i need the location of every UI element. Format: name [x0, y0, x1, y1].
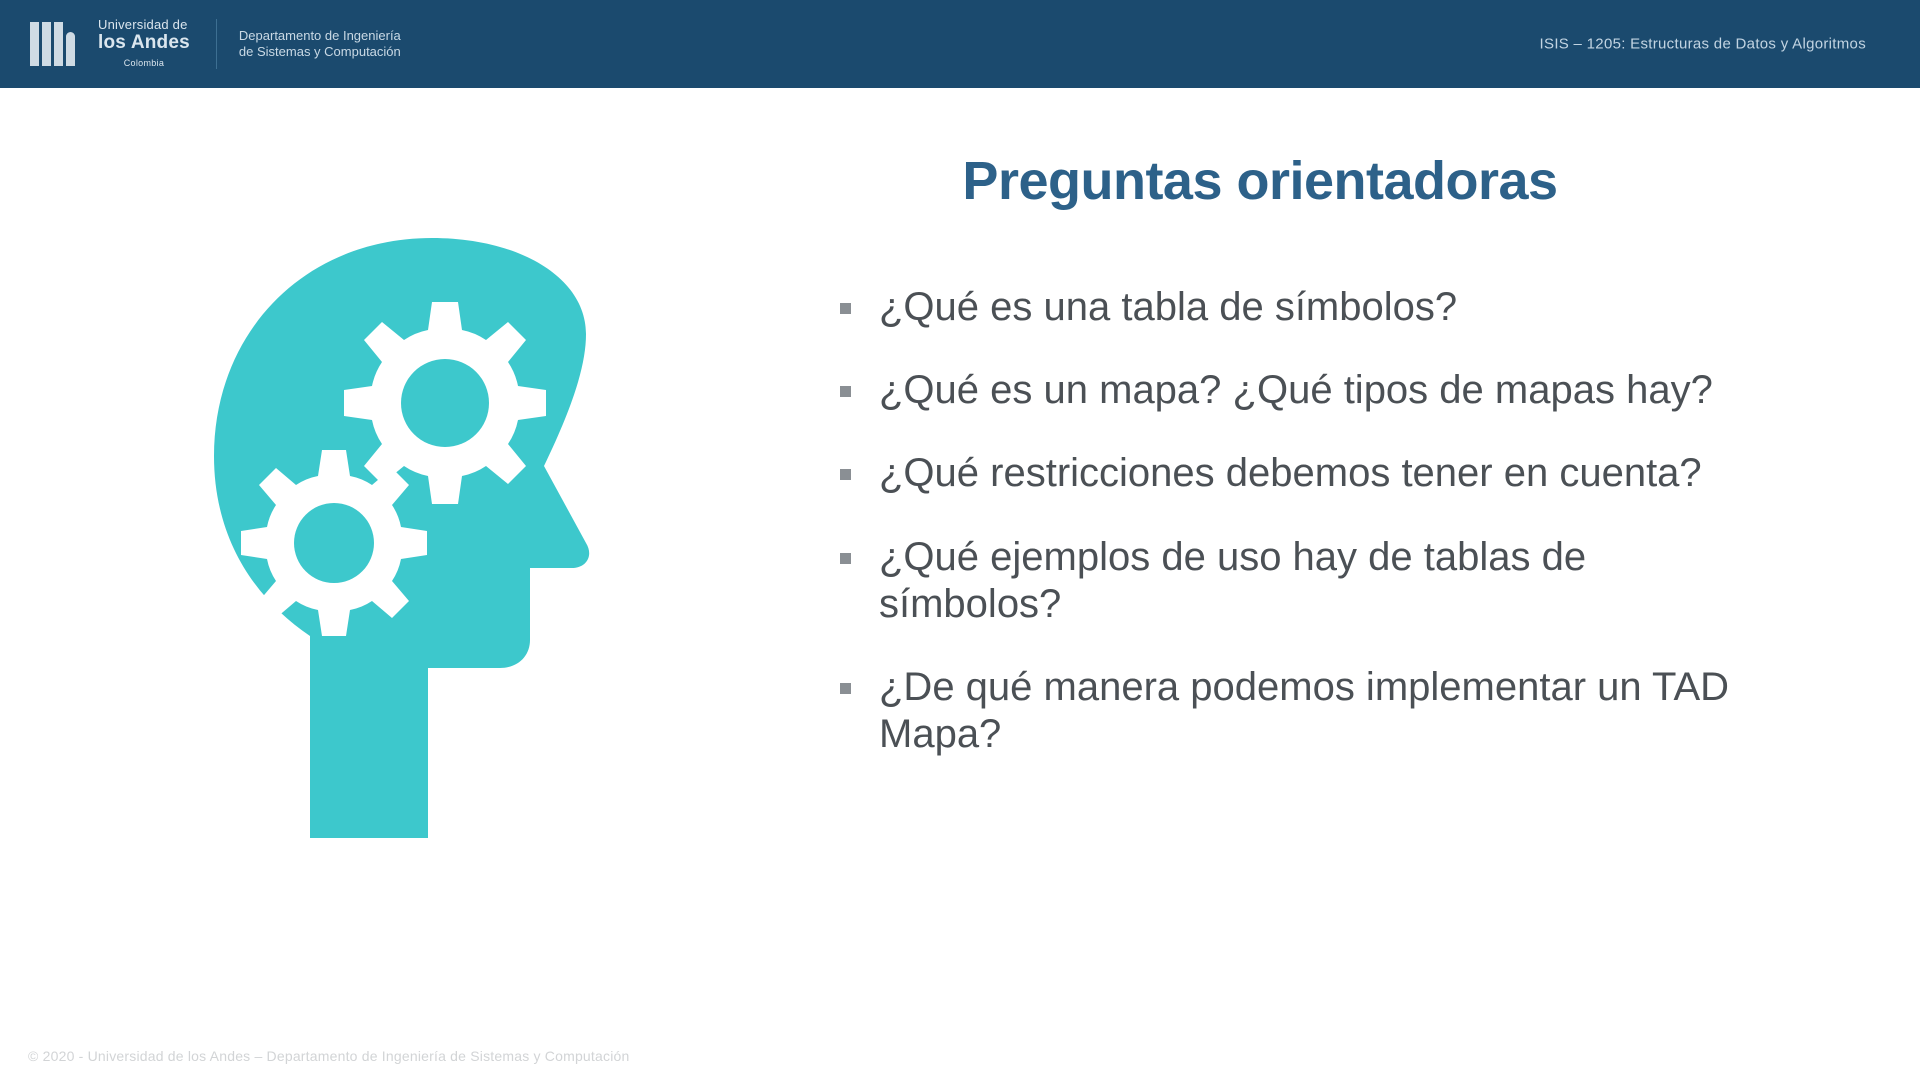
list-item: ¿Qué restricciones debemos tener en cuen… [840, 450, 1820, 497]
slide-header: Universidad de los Andes Colombia Depart… [0, 0, 1920, 88]
list-item-text: ¿Qué ejemplos de uso hay de tablas de sí… [879, 534, 1759, 628]
questions-list: ¿Qué es una tabla de símbolos? ¿Qué es u… [840, 284, 1820, 758]
logo-line-3: Colombia [98, 59, 190, 69]
bullet-square-icon [840, 683, 851, 694]
list-item: ¿Qué es un mapa? ¿Qué tipos de mapas hay… [840, 367, 1820, 414]
presentation-slide: Universidad de los Andes Colombia Depart… [0, 0, 1920, 1080]
slide-footer: © 2020 - Universidad de los Andes – Depa… [28, 1048, 629, 1064]
bullet-square-icon [840, 553, 851, 564]
header-divider [216, 19, 217, 69]
bullet-square-icon [840, 469, 851, 480]
course-code-label: ISIS – 1205: Estructuras de Datos y Algo… [1540, 36, 1866, 53]
bullet-square-icon [840, 303, 851, 314]
content-column: Preguntas orientadoras ¿Qué es una tabla… [820, 150, 1820, 794]
logo-line-1: Universidad de [98, 18, 190, 32]
department-label: Departamento de Ingeniería de Sistemas y… [239, 28, 401, 61]
university-logo-text: Universidad de los Andes Colombia [98, 16, 190, 68]
university-logo: Universidad de los Andes Colombia [28, 16, 190, 72]
list-item: ¿De qué manera podemos implementar un TA… [840, 664, 1820, 758]
page-title: Preguntas orientadoras [850, 150, 1670, 212]
list-item: ¿Qué es una tabla de símbolos? [840, 284, 1820, 331]
uniandes-logo-icon [28, 20, 86, 72]
slide-body: Preguntas orientadoras ¿Qué es una tabla… [0, 88, 1920, 1080]
bullet-square-icon [840, 386, 851, 397]
list-item-text: ¿Qué es una tabla de símbolos? [879, 284, 1457, 331]
head-with-gears-icon [200, 238, 720, 838]
department-line-2: de Sistemas y Computación [239, 44, 401, 60]
list-item-text: ¿De qué manera podemos implementar un TA… [879, 664, 1759, 758]
list-item-text: ¿Qué es un mapa? ¿Qué tipos de mapas hay… [879, 367, 1713, 414]
department-line-1: Departamento de Ingeniería [239, 28, 401, 44]
list-item: ¿Qué ejemplos de uso hay de tablas de sí… [840, 534, 1820, 628]
logo-line-2: los Andes [98, 33, 190, 54]
list-item-text: ¿Qué restricciones debemos tener en cuen… [879, 450, 1702, 497]
